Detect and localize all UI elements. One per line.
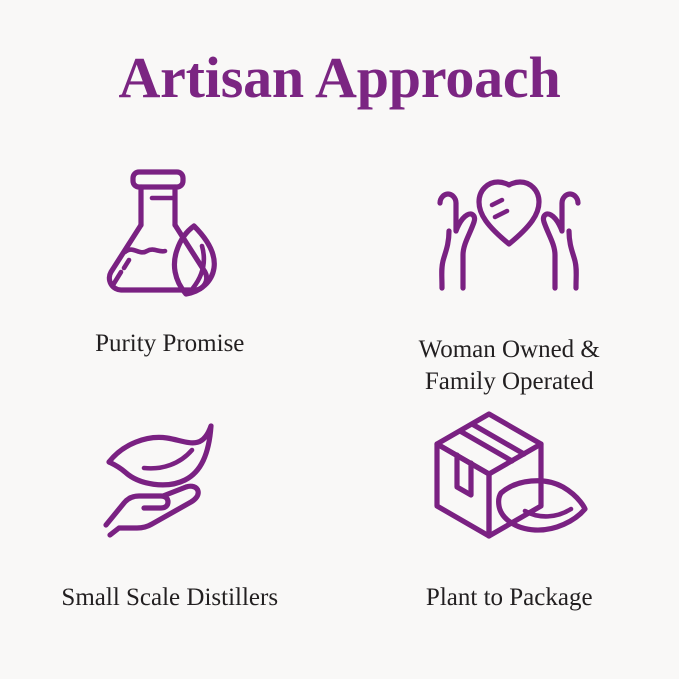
feature-label: Small Scale Distillers xyxy=(61,582,278,614)
feature-item-plant-to-package: Plant to Package xyxy=(340,398,679,634)
box-leaf-icon xyxy=(429,408,589,548)
feature-label: Purity Promise xyxy=(95,328,244,360)
hand-leaf-icon xyxy=(100,412,240,552)
page-title: Artisan Approach xyxy=(0,44,679,112)
feature-label: Woman Owned & Family Operated xyxy=(419,334,600,398)
hands-heart-icon xyxy=(424,164,594,304)
feature-label: Plant to Package xyxy=(426,582,593,614)
feature-item-purity-promise: Purity Promise xyxy=(0,150,340,398)
artisan-approach-panel: Artisan Approach xyxy=(0,0,679,679)
flask-leaf-icon xyxy=(95,160,245,300)
feature-item-woman-owned: Woman Owned & Family Operated xyxy=(340,150,679,398)
feature-item-small-scale-distillers: Small Scale Distillers xyxy=(0,398,340,634)
feature-grid: Purity Promise xyxy=(0,150,679,650)
